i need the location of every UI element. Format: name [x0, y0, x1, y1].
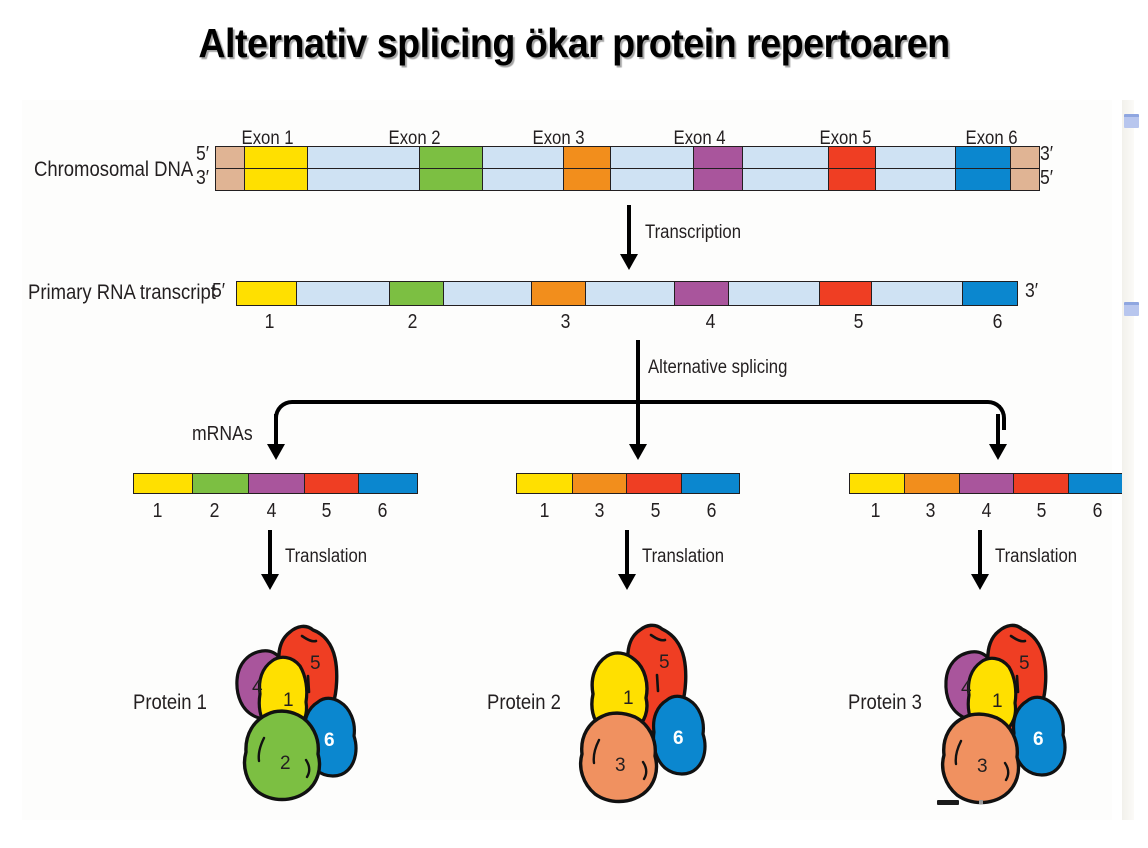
dna-bottom-segment-Exon 1-1	[245, 169, 307, 190]
dna-top-segment-Exon 5-9	[829, 147, 876, 168]
translation-label-1: Translation	[285, 546, 367, 568]
rna-segment-intron-9	[872, 282, 963, 305]
translation-arrow-head-3	[971, 574, 989, 590]
protein-3-num-5: 5	[1019, 653, 1030, 674]
rna-segment-2-2	[390, 282, 444, 305]
rna-segment-5-8	[820, 282, 872, 305]
alternative-splicing-arrow-shaft	[636, 340, 640, 400]
dna-top-segment-flank-0	[216, 147, 245, 168]
mrna3-exon-number-4: 5	[1037, 500, 1047, 523]
protein-1-structure: 4 5 1 6 2	[190, 606, 420, 816]
mrna-bar-2	[516, 473, 740, 494]
splicing-branch-bracket	[274, 400, 1006, 430]
rna-segment-3-4	[532, 282, 586, 305]
primary-rna-transcript-label: Primary RNA transcript	[28, 281, 216, 305]
rna-segment-intron-5	[586, 282, 675, 305]
translation-label-3: Translation	[995, 546, 1077, 568]
protein-1-num-6: 6	[324, 730, 335, 751]
slide-canvas: Alternativ splicing ökar protein reperto…	[0, 0, 1148, 848]
slide-scroll-strip[interactable]	[1122, 100, 1134, 820]
dna-top-segment-Exon 3-5	[564, 147, 611, 168]
dna-bottom-segment-Exon 3-5	[564, 169, 611, 190]
mrna2-exon-number-1: 1	[540, 500, 550, 523]
mrna3-segment-3-1	[905, 474, 960, 493]
rna-five-prime: 5′	[212, 280, 225, 303]
protein-2-num-6: 6	[673, 728, 684, 749]
protein-1-num-4: 4	[252, 677, 263, 698]
mrna2-segment-6-3	[682, 474, 739, 493]
rna-exon-number-1: 1	[265, 311, 275, 334]
rna-segment-4-6	[675, 282, 729, 305]
protein-3-num-6: 6	[1033, 729, 1044, 750]
transcription-arrow-head	[620, 254, 638, 270]
protein-2-structure: 5 1 6 3	[545, 606, 775, 816]
dna-bottom-segment-intron-6	[611, 169, 694, 190]
dna-top-segment-intron-4	[483, 147, 564, 168]
page-title: Alternativ splicing ökar protein reperto…	[46, 20, 1102, 67]
mrna-bar-1	[133, 473, 418, 494]
protein-2-num-1: 1	[623, 688, 634, 709]
translation-arrow-shaft-2	[625, 530, 629, 580]
dna-bottom-segment-Exon 4-7	[694, 169, 743, 190]
rna-exon-number-4: 4	[706, 311, 716, 334]
mrna2-exon-number-3: 5	[651, 500, 661, 523]
mrna1-exon-number-2: 2	[210, 500, 220, 523]
dna-top-segment-Exon 4-7	[694, 147, 743, 168]
mrna3-segment-5-3	[1014, 474, 1069, 493]
dna-top-segment-Exon 6-11	[956, 147, 1011, 168]
mrna1-exon-number-3: 4	[267, 500, 277, 523]
dna-three-prime-bottom: 3′	[196, 167, 209, 190]
mrna3-exon-number-1: 1	[871, 500, 881, 523]
translation-arrow-head-2	[618, 574, 636, 590]
protein-1-num-1: 1	[283, 690, 294, 711]
dna-top-segment-intron-6	[611, 147, 694, 168]
rna-segment-1-0	[237, 282, 297, 305]
mrna-arrow-shaft-2	[636, 398, 640, 450]
protein-3-num-4: 4	[961, 678, 972, 699]
rna-segment-intron-1	[297, 282, 390, 305]
translation-label-2: Translation	[642, 546, 724, 568]
transcription-arrow-shaft	[627, 205, 631, 260]
rna-segment-intron-3	[444, 282, 533, 305]
protein-2-num-3: 3	[615, 755, 626, 776]
chromosomal-dna-strand-bottom	[215, 168, 1040, 191]
protein-3-num-3: 3	[977, 756, 988, 777]
alternative-splicing-label: Alternative splicing	[648, 357, 787, 379]
dna-bottom-segment-flank-12	[1011, 169, 1039, 190]
dna-top-segment-intron-8	[743, 147, 830, 168]
translation-arrow-shaft-1	[268, 530, 272, 580]
mrna2-exon-number-4: 6	[707, 500, 717, 523]
dna-top-segment-intron-2	[308, 147, 421, 168]
dna-bottom-segment-Exon 6-11	[956, 169, 1011, 190]
mrna1-exon-number-5: 6	[378, 500, 388, 523]
dna-top-segment-Exon 1-1	[245, 147, 307, 168]
scroll-marker-middle[interactable]	[1124, 302, 1139, 316]
rna-exon-number-5: 5	[854, 311, 864, 334]
mrna2-exon-number-2: 3	[595, 500, 605, 523]
chromosomal-dna-label: Chromosomal DNA	[34, 158, 193, 182]
status-dot	[979, 800, 983, 804]
rna-three-prime: 3′	[1025, 280, 1038, 303]
mrna-bar-3	[849, 473, 1126, 494]
rna-exon-number-2: 2	[408, 311, 418, 334]
dna-bottom-segment-intron-8	[743, 169, 830, 190]
translation-arrow-head-1	[261, 574, 279, 590]
dna-bottom-segment-intron-2	[308, 169, 421, 190]
dna-three-prime-top: 3′	[1040, 143, 1053, 166]
dna-top-segment-Exon 2-3	[420, 147, 482, 168]
rna-exon-number-6: 6	[993, 311, 1003, 334]
protein-1-num-5: 5	[310, 653, 321, 674]
mrna-arrow-head-1	[267, 444, 285, 460]
mrnas-label: mRNAs	[192, 423, 253, 446]
mrna3-exon-number-3: 4	[982, 500, 992, 523]
mrna3-exon-number-5: 6	[1093, 500, 1103, 523]
dna-bottom-segment-flank-0	[216, 169, 245, 190]
mrna2-segment-5-2	[627, 474, 683, 493]
mrna2-segment-1-0	[517, 474, 573, 493]
mrna1-segment-6-4	[359, 474, 417, 493]
protein-3-num-1: 1	[992, 691, 1003, 712]
mrna1-exon-number-4: 5	[322, 500, 332, 523]
mrna3-segment-1-0	[850, 474, 905, 493]
translation-arrow-shaft-3	[978, 530, 982, 580]
mrna1-exon-number-1: 1	[153, 500, 163, 523]
chromosomal-dna-strand-top	[215, 146, 1040, 169]
mrna1-segment-4-2	[249, 474, 305, 493]
primary-rna-transcript-bar	[236, 281, 1018, 306]
mrna1-segment-5-3	[305, 474, 359, 493]
dna-five-prime-top: 5′	[196, 143, 209, 166]
dna-bottom-segment-Exon 2-3	[420, 169, 482, 190]
mrna2-segment-3-1	[573, 474, 627, 493]
mrna3-exon-number-2: 3	[926, 500, 936, 523]
rna-segment-6-10	[963, 282, 1017, 305]
mrna3-segment-4-2	[960, 474, 1015, 493]
dna-bottom-segment-intron-10	[876, 169, 956, 190]
mrna3-segment-6-4	[1069, 474, 1125, 493]
transcription-label: Transcription	[645, 222, 741, 244]
mrna1-segment-1-0	[134, 474, 193, 493]
mrna-arrow-head-3	[989, 444, 1007, 460]
dna-top-segment-intron-10	[876, 147, 956, 168]
protein-3-structure: 4 5 1 6 3	[903, 606, 1133, 816]
mrna-arrow-head-2	[629, 444, 647, 460]
status-marker	[937, 800, 959, 805]
protein-2-num-5: 5	[659, 652, 670, 673]
protein-1-num-2: 2	[280, 753, 291, 774]
dna-top-segment-flank-12	[1011, 147, 1039, 168]
scroll-marker-top[interactable]	[1124, 114, 1139, 128]
rna-segment-intron-7	[729, 282, 820, 305]
dna-bottom-segment-intron-4	[483, 169, 564, 190]
rna-exon-number-3: 3	[561, 311, 571, 334]
mrna1-segment-2-1	[193, 474, 249, 493]
dna-five-prime-bottom: 5′	[1040, 167, 1053, 190]
dna-bottom-segment-Exon 5-9	[829, 169, 876, 190]
